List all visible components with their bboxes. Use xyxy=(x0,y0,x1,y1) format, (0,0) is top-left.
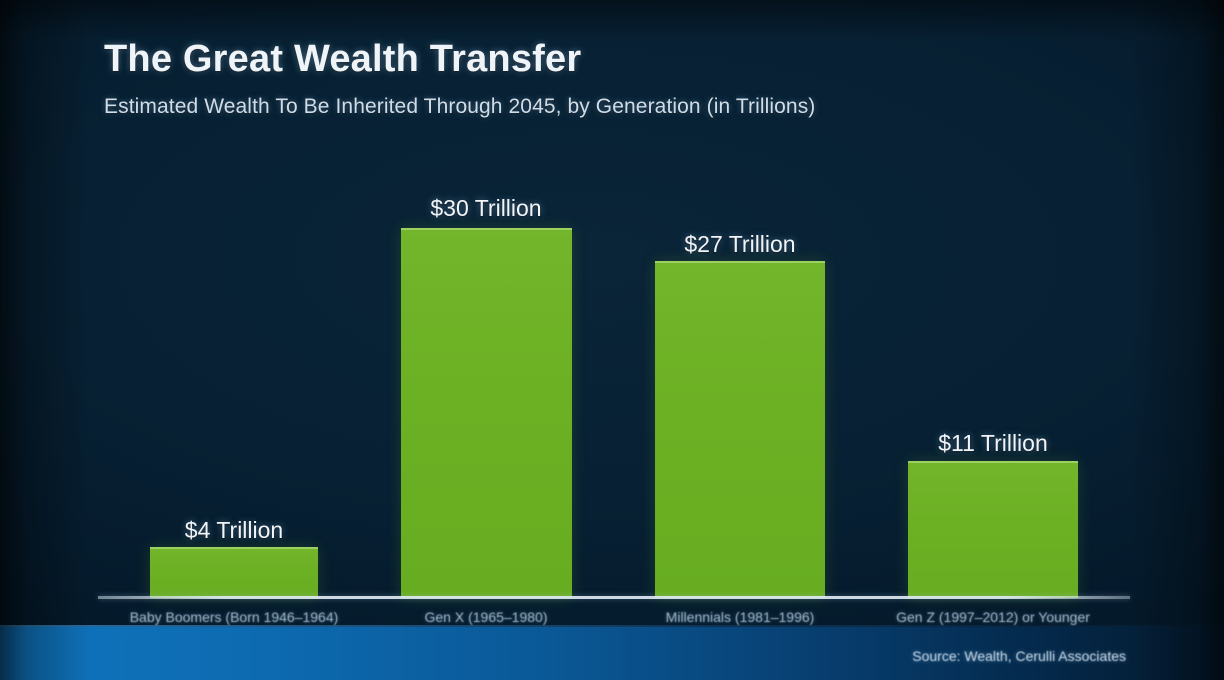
bar-value-label-gen-x: $30 Trillion xyxy=(396,195,576,222)
x-axis-line xyxy=(98,596,1130,599)
bar-value-label-millennials: $27 Trillion xyxy=(650,231,830,258)
x-axis-label-millennials: Millennials (1981–1996) xyxy=(620,609,860,625)
bar-gen-z xyxy=(908,461,1078,598)
bar-baby-boomers xyxy=(150,547,318,598)
bar-value-label-gen-z: $11 Trillion xyxy=(903,430,1083,457)
x-axis-label-baby-boomers: Baby Boomers (Born 1946–1964) xyxy=(114,609,354,625)
bar-chart-plot-area: $4 Trillion $30 Trillion $27 Trillion $1… xyxy=(0,0,1224,680)
x-axis-label-gen-x: Gen X (1965–1980) xyxy=(366,609,606,625)
bar-gen-x xyxy=(401,228,572,598)
bar-value-label-baby-boomers: $4 Trillion xyxy=(144,517,324,544)
x-axis-label-gen-z: Gen Z (1997–2012) or Younger xyxy=(873,609,1113,625)
source-attribution: Source: Wealth, Cerulli Associates xyxy=(912,648,1126,664)
footer-band-edge xyxy=(0,625,1224,627)
bar-millennials xyxy=(655,261,825,598)
slide-canvas: The Great Wealth Transfer Estimated Weal… xyxy=(0,0,1224,680)
